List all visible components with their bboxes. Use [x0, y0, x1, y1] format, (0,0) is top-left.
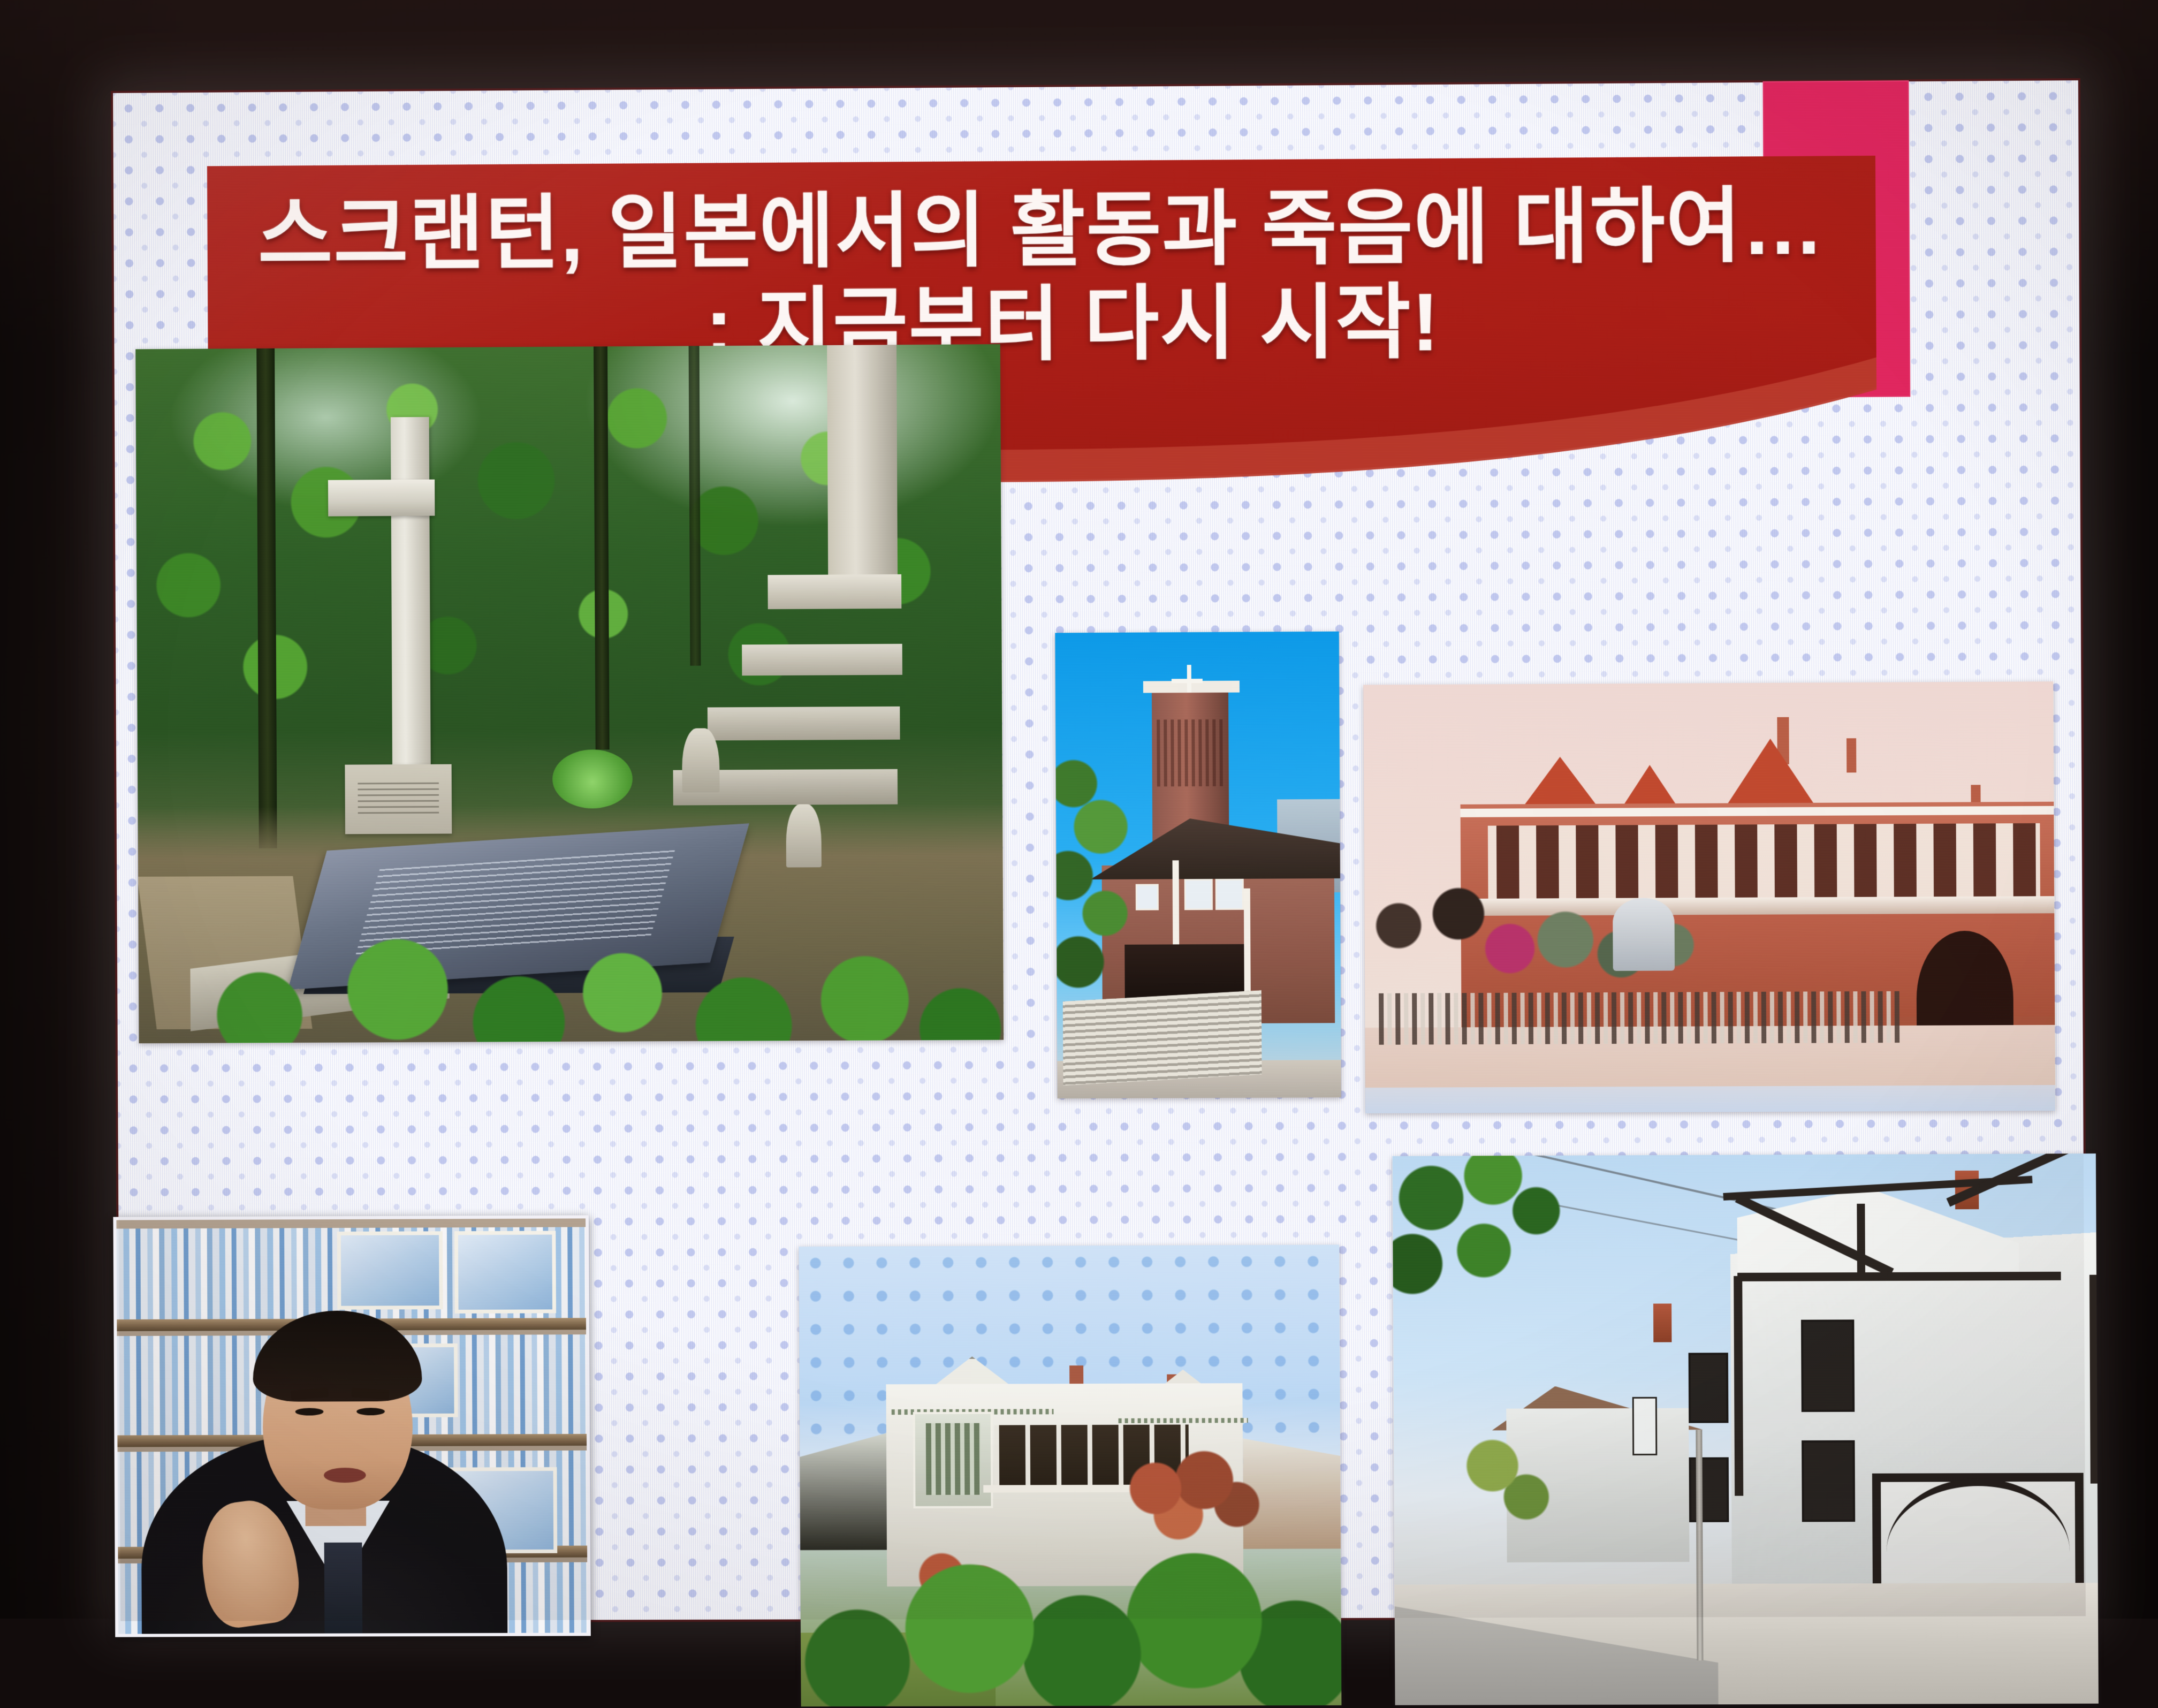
foreground-shrubs: [138, 845, 1004, 1043]
window-shutter: [1802, 1440, 1856, 1522]
monument-column: [827, 344, 898, 582]
street-tree: [1393, 1153, 1618, 1365]
stone-cross-arm: [328, 480, 435, 517]
half-timbered-house-photo: [1393, 1153, 2099, 1705]
church-photo-content: [1055, 632, 1341, 1099]
grave-photo-content: [135, 344, 1004, 1043]
monument-cap: [768, 574, 901, 609]
street-tree: [1436, 1408, 1577, 1552]
bay-window: [913, 1411, 993, 1508]
framed-picture: [337, 1232, 443, 1310]
gingerbread-trim: [1118, 1418, 1248, 1423]
chimney: [1846, 738, 1856, 772]
timber-beam: [1737, 1272, 2061, 1281]
timber-beam: [1857, 1204, 1865, 1276]
slide-title-line-1: 스크랜턴, 일본에서의 활동과 죽음에 대하여…: [207, 178, 1876, 283]
shrub: [552, 749, 633, 809]
tree-trunk: [594, 346, 610, 749]
church-window: [1184, 879, 1213, 910]
eye: [356, 1408, 385, 1415]
foreground-tree: [1055, 735, 1142, 1005]
roof-gable: [1722, 739, 1819, 812]
garden-hedge: [799, 1539, 1341, 1706]
tree-trunk: [688, 346, 701, 665]
necktie: [324, 1542, 362, 1633]
stone-monument: [1613, 898, 1675, 971]
stone-cross-icon: [391, 417, 431, 778]
crowd-of-visitors: [1379, 991, 1903, 1045]
entrance-stairs: [1062, 990, 1262, 1085]
framed-picture: [454, 1231, 556, 1314]
grave-photo: [135, 344, 1004, 1043]
tree-trunk: [256, 348, 277, 848]
street-photo-content: [1393, 1153, 2099, 1705]
presentation-slide: 스크랜턴, 일본에서의 활동과 죽음에 대하여… : 지금부터 다시 시작!: [113, 80, 2086, 1621]
speaker-webcam-overlay[interactable]: [113, 1215, 590, 1637]
chimney: [1653, 1303, 1671, 1342]
small-headstone: [682, 728, 719, 792]
postcard-content: [1363, 681, 2055, 1113]
brick-building-postcard: [1363, 681, 2055, 1113]
victorian-house-photo: [799, 1244, 1341, 1706]
red-maple-tree: [1113, 1447, 1276, 1549]
window-shutter: [1689, 1353, 1728, 1423]
window-shutter: [1801, 1319, 1855, 1412]
church-window: [1215, 879, 1244, 910]
church-photo: [1055, 632, 1341, 1099]
monument-step: [708, 707, 900, 741]
house-window: [1632, 1397, 1657, 1455]
eye: [295, 1408, 324, 1415]
rooftop-cross-arm: [1172, 679, 1203, 683]
monument-step: [742, 644, 902, 675]
utility-pole: [1696, 1430, 1704, 1660]
victorian-photo-content: [799, 1244, 1341, 1706]
cross-pedestal: [345, 764, 452, 834]
mouth: [324, 1468, 366, 1483]
window-shutter: [1689, 1457, 1729, 1522]
timber-beam: [1734, 1276, 1743, 1496]
